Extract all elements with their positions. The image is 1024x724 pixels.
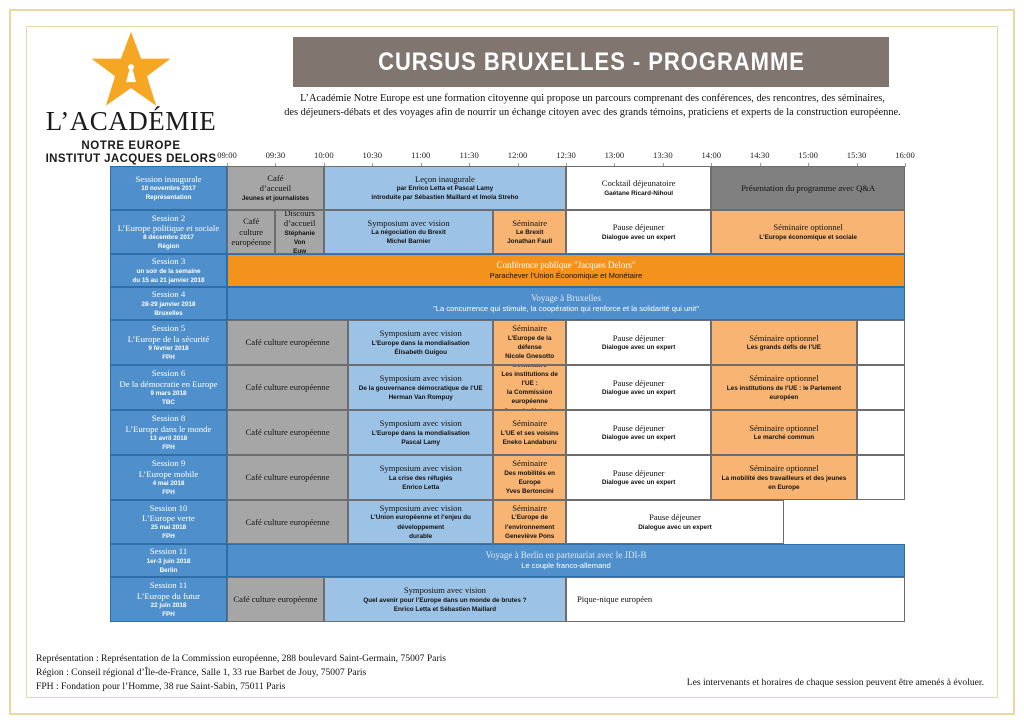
cell-detail: Dialogue avec un expert xyxy=(602,478,676,487)
cell-detail: Jeunes et journalistes xyxy=(242,194,309,203)
schedule-cell[interactable]: SéminaireL’Europe de l’environnementGene… xyxy=(493,500,566,544)
cell-title: Pique-nique européen xyxy=(577,594,652,605)
schedule-cell[interactable]: Séminaire optionnelLa mobilité des trava… xyxy=(711,455,856,500)
star-icon xyxy=(89,30,173,110)
session-banner[interactable]: Conférence publique "Jacques Delors"Para… xyxy=(227,254,905,287)
cell-detail: la Commission européenne xyxy=(497,388,562,406)
axis-tick-mark xyxy=(905,163,906,167)
schedule-cell[interactable]: Symposium avec visionL’Union européenne … xyxy=(348,500,493,544)
cell-title: Séminaire optionnel xyxy=(773,222,842,233)
intro-text: L’Académie Notre Europe est une formatio… xyxy=(240,92,945,119)
cell-detail: L’Union européenne et l’enjeu du dévelop… xyxy=(352,513,489,531)
session-label-l4: FPH xyxy=(162,488,175,497)
logo-institute: INSTITUT JACQUES DELORS xyxy=(36,153,226,165)
cell-detail: en Europe xyxy=(768,483,799,492)
cell-detail: Euw xyxy=(293,247,306,254)
cell-detail: Les institutions de l’UE : le Parlement … xyxy=(715,384,852,402)
session-label-l1: Session inaugurale xyxy=(135,174,201,184)
session-banner[interactable]: Voyage à Berlin en partenariat avec le J… xyxy=(227,544,905,577)
cell-detail: Les grands défis de l’UE xyxy=(747,343,821,352)
schedule-cell[interactable]: Symposium avec visionL’Europe dans la mo… xyxy=(348,320,493,365)
schedule-cell[interactable]: Cafécultureeuropéenne xyxy=(227,210,275,254)
axis-tick-label: 11:00 xyxy=(411,150,430,160)
session-label-l3: 9 février 2018 xyxy=(148,344,188,353)
cell-title: Symposium avec vision xyxy=(380,463,462,474)
session-label-l1: Session 5 xyxy=(152,323,185,333)
session-label-l3: 22 juin 2018 xyxy=(151,601,187,610)
session-label-l4: Région xyxy=(158,242,179,251)
schedule-row: Session 2L’Europe politique et sociale8 … xyxy=(110,210,905,254)
cell-title: d’accueil xyxy=(284,218,316,229)
schedule-row: Session 428-29 janvier 2018BruxellesVoya… xyxy=(110,287,905,320)
schedule-cell[interactable]: Symposium avec visionLa crise des réfugi… xyxy=(348,455,493,500)
session-label-l4: FPH xyxy=(162,353,175,362)
schedule-cell[interactable]: Séminaire optionnelL’Europe économique e… xyxy=(711,210,905,254)
cell-title: Symposium avec vision xyxy=(368,218,450,229)
schedule-cell[interactable]: Présentation du programme avec Q&A xyxy=(711,166,905,210)
schedule-cell[interactable]: Symposium avec visionDe la gouvernance d… xyxy=(348,365,493,410)
cell-title: Leçon inaugurale xyxy=(415,174,475,185)
schedule-cell[interactable]: Café culture européenne xyxy=(227,500,348,544)
cell-detail: introduite par Sébastien Maillard et Imo… xyxy=(371,193,518,202)
cell-detail: Yves Bertoncini xyxy=(506,487,554,496)
cell-title: Séminaire xyxy=(512,418,547,429)
footer-line-1: Représentation : Représentation de la Co… xyxy=(36,652,446,666)
session-label-l1: Session 4 xyxy=(152,289,185,299)
cell-detail: Gaétane Ricard-Nihoul xyxy=(604,189,673,198)
schedule-cell[interactable]: Séminaire optionnelLes grands défis de l… xyxy=(711,320,856,365)
footer-addresses: Représentation : Représentation de la Co… xyxy=(36,652,446,694)
session-label-l2: De la démocratie en Europe xyxy=(119,379,217,389)
cell-detail: De la gouvernance démocratique de l’UE xyxy=(359,384,483,393)
schedule-cell[interactable]: Symposium avec visionLa négociation du B… xyxy=(324,210,494,254)
schedule-cell[interactable]: Pause déjeunerDialogue avec un expert xyxy=(566,455,711,500)
page-title: CURSUS BRUXELLES - PROGRAMME xyxy=(293,37,889,87)
cell-title: Cocktail déjeunatoire xyxy=(602,178,676,189)
schedule-cell[interactable]: SéminaireLes institutions de l’UE :la Co… xyxy=(493,365,566,410)
schedule-row: Session 111er-3 juin 2018BerlinVoyage à … xyxy=(110,544,905,577)
schedule-cell[interactable]: Café culture européenne xyxy=(227,577,324,622)
schedule-cell[interactable]: Symposium avec visionL’Europe dans la mo… xyxy=(348,410,493,455)
cell-detail: Herman Van Rompuy xyxy=(389,393,453,402)
schedule-cell[interactable]: SéminaireL’UE et ses voisinsEneko Landab… xyxy=(493,410,566,455)
schedule-row: Session 10L’Europe verte25 mai 2018FPHCa… xyxy=(110,500,905,544)
axis-tick-label: 13:30 xyxy=(653,150,673,160)
cell-title: Café culture européenne xyxy=(233,594,317,605)
cell-title: Pause déjeuner xyxy=(613,333,665,344)
cell-detail: Pascal Lamy xyxy=(401,438,440,447)
cell-detail: Dialogue avec un expert xyxy=(638,523,712,532)
session-label-l3: 13 avril 2018 xyxy=(150,434,187,443)
cell-detail: La mobilité des travailleurs et des jeun… xyxy=(722,474,847,483)
session-label-cell[interactable]: Session 10L’Europe verte25 mai 2018FPH xyxy=(110,500,227,544)
session-label-l3: 8 décembre 2017 xyxy=(143,233,194,242)
session-label-l4: Bruxelles xyxy=(154,309,182,318)
session-label-cell[interactable]: Session 11L’Europe du futur22 juin 2018F… xyxy=(110,577,227,622)
cell-detail: Enrico Letta xyxy=(402,483,439,492)
cell-title: Séminaire xyxy=(512,218,547,229)
session-label-cell[interactable]: Session 5L’Europe de la sécurité9 févrie… xyxy=(110,320,227,365)
session-label-l2: L’Europe mobile xyxy=(139,469,199,479)
schedule-cell[interactable]: Pique-nique européen xyxy=(566,577,905,622)
schedule-cell[interactable]: Pause déjeunerDialogue avec un expert xyxy=(566,500,784,544)
session-label-l4: FPH xyxy=(162,532,175,541)
cell-title: Symposium avec vision xyxy=(380,503,462,514)
axis-tick-label: 12:00 xyxy=(508,150,528,160)
cell-detail: L’Europe économique et sociale xyxy=(759,233,857,242)
cell-title: Pause déjeuner xyxy=(649,512,701,523)
cell-detail: Le Brexit xyxy=(516,228,543,237)
cell-detail: Geneviève Pons xyxy=(505,532,554,541)
schedule-row: Session 5L’Europe de la sécurité9 févrie… xyxy=(110,320,905,365)
session-label-l4: FPH xyxy=(162,610,175,619)
cell-title: Pause déjeuner xyxy=(613,423,665,434)
axis-tick-label: 14:30 xyxy=(750,150,770,160)
axis-tick-label: 10:30 xyxy=(362,150,382,160)
schedule-cell[interactable]: SéminaireL’Europe de la défenseNicole Gn… xyxy=(493,320,566,365)
footer-line-2: Région : Conseil régional d’Île-de-Franc… xyxy=(36,666,446,680)
cell-title: Café xyxy=(243,216,259,227)
cell-detail: L’Europe dans la mondialisation xyxy=(372,429,470,438)
schedule-cell[interactable]: Pause déjeunerDialogue avec un expert xyxy=(566,365,711,410)
axis-tick-label: 10:00 xyxy=(314,150,334,160)
cell-title: Pause déjeuner xyxy=(613,468,665,479)
cell-title: Café culture européenne xyxy=(246,517,330,528)
session-label-l4: Berlin xyxy=(160,566,178,575)
session-label-l4: du 15 au 21 janvier 2018 xyxy=(132,276,204,285)
session-label-l2: L’Europe du futur xyxy=(137,591,200,601)
session-label-cell[interactable]: Session 6De la démocratie en Europe9 mar… xyxy=(110,365,227,410)
axis-tick-label: 11:30 xyxy=(460,150,479,160)
session-label-l1: Session 3 xyxy=(152,256,185,266)
session-label-cell[interactable]: Session 111er-3 juin 2018Berlin xyxy=(110,544,227,577)
schedule-cell[interactable]: Caféd’accueilJeunes et journalistes xyxy=(227,166,324,210)
schedule-row: Session 8L’Europe dans le monde13 avril … xyxy=(110,410,905,455)
session-label-l4: FPH xyxy=(162,443,175,452)
cell-detail: L’Europe de la défense xyxy=(497,334,562,352)
session-label-l1: Session 10 xyxy=(150,503,188,513)
cell-title: Symposium avec vision xyxy=(380,418,462,429)
cell-detail: Enrico Letta et Sébastien Maillard xyxy=(394,605,496,614)
cell-detail: Eneko Landaburu xyxy=(503,438,557,447)
cell-detail: Des mobilités en Europe xyxy=(497,469,562,487)
session-label-cell[interactable]: Session 8L’Europe dans le monde13 avril … xyxy=(110,410,227,455)
logo-subtitle: NOTRE EUROPE xyxy=(36,140,226,152)
cell-title: Séminaire optionnel xyxy=(749,423,818,434)
schedule-cell[interactable]: Cocktail déjeunatoireGaétane Ricard-Niho… xyxy=(566,166,711,210)
cell-title: Séminaire xyxy=(512,323,547,334)
banner-title: Voyage à Bruxelles xyxy=(531,293,601,304)
session-label-cell[interactable]: Session 9L’Europe mobile4 mai 2018FPH xyxy=(110,455,227,500)
schedule-cell[interactable]: Séminaire optionnelLes institutions de l… xyxy=(711,365,856,410)
session-label-l3: 9 mars 2018 xyxy=(150,389,186,398)
cell-title: Séminaire xyxy=(512,503,547,514)
footer-line-3: FPH : Fondation pour l’Homme, 38 rue Sai… xyxy=(36,680,446,694)
session-label-l3: 25 mai 2018 xyxy=(151,523,186,532)
banner-title: Voyage à Berlin en partenariat avec le J… xyxy=(485,550,646,561)
cell-detail: Élisabeth Guigou xyxy=(394,348,447,357)
axis-tick-label: 15:00 xyxy=(798,150,818,160)
axis-tick-label: 15:30 xyxy=(847,150,867,160)
cell-title: Café culture européenne xyxy=(246,337,330,348)
schedule-row: Session inaugurale10 novembre 2017Représ… xyxy=(110,166,905,210)
cell-detail: Nicole Gnesotto xyxy=(505,352,554,361)
schedule-cell[interactable]: SéminaireLe BrexitJonathan Faull xyxy=(493,210,566,254)
schedule-cell[interactable]: SéminaireDes mobilités en EuropeYves Ber… xyxy=(493,455,566,500)
axis-tick-label: 14:00 xyxy=(701,150,721,160)
schedule-cell[interactable]: Pause déjeunerDialogue avec un expert xyxy=(566,320,711,365)
cell-title: Pause déjeuner xyxy=(613,222,665,233)
session-label-l2: L’Europe dans le monde xyxy=(126,424,212,434)
session-label-l1: Session 2 xyxy=(152,213,185,223)
session-label-cell[interactable]: Session 3un soir de la semainedu 15 au 2… xyxy=(110,254,227,287)
cell-detail: Quel avenir pour l’Europe dans un monde … xyxy=(363,596,526,605)
session-label-l3: 28-29 janvier 2018 xyxy=(142,300,196,309)
cell-title: Symposium avec vision xyxy=(404,585,486,596)
schedule-cell[interactable]: Discoursd’accueilStéphanie VonEuw xyxy=(275,210,323,254)
cell-title: Présentation du programme avec Q&A xyxy=(741,183,875,194)
logo: L’ACADÉMIE NOTRE EUROPE INSTITUT JACQUES… xyxy=(36,30,226,165)
schedule-cell[interactable] xyxy=(857,455,905,500)
cell-title: Séminaire optionnel xyxy=(749,373,818,384)
cell-detail: Dialogue avec un expert xyxy=(602,233,676,242)
cell-detail: par Enrico Letta et Pascal Lamy xyxy=(397,184,494,193)
cell-title: européenne xyxy=(231,237,271,248)
intro-line-2: des déjeuners-débats et des voyages afin… xyxy=(240,106,945,120)
cell-title: d’accueil xyxy=(260,183,292,194)
session-label-cell[interactable]: Session inaugurale10 novembre 2017Représ… xyxy=(110,166,227,210)
cell-title: Discours xyxy=(284,210,315,218)
session-label-l1: Session 6 xyxy=(152,368,185,378)
schedule-cell[interactable]: Symposium avec visionQuel avenir pour l’… xyxy=(324,577,566,622)
axis-tick-label: 12:30 xyxy=(556,150,576,160)
cell-detail: Les institutions de l’UE : xyxy=(497,370,562,388)
cell-detail: L’Europe de l’environnement xyxy=(497,513,562,531)
session-label-l3: 4 mai 2018 xyxy=(153,479,185,488)
session-label-l4: TBC xyxy=(162,398,175,407)
cell-detail: La crise des réfugiés xyxy=(389,474,453,483)
cell-title: Symposium avec vision xyxy=(380,328,462,339)
cell-detail: Stéphanie Von xyxy=(279,229,319,247)
page-title-text: CURSUS BRUXELLES - PROGRAMME xyxy=(378,48,805,77)
footer-note: Les intervenants et horaires de chaque s… xyxy=(687,677,984,688)
schedule-row: Session 9L’Europe mobile4 mai 2018FPHCaf… xyxy=(110,455,905,500)
session-label-cell[interactable]: Session 2L’Europe politique et sociale8 … xyxy=(110,210,227,254)
cell-detail: Le marché commun xyxy=(754,433,814,442)
banner-title: Conférence publique "Jacques Delors" xyxy=(496,260,635,271)
session-label-l1: Session 11 xyxy=(150,580,188,590)
cell-detail: Dialogue avec un expert xyxy=(602,433,676,442)
banner-subtitle: Le couple franco-allemand xyxy=(521,561,611,572)
intro-line-1: L’Académie Notre Europe est une formatio… xyxy=(240,92,945,106)
cell-title: Café xyxy=(267,173,283,184)
schedule-row: Session 11L’Europe du futur22 juin 2018F… xyxy=(110,577,905,622)
time-axis: 09:0009:3010:0010:3011:0011:3012:0012:30… xyxy=(227,150,905,163)
cell-title: Séminaire optionnel xyxy=(749,333,818,344)
schedule-cell[interactable]: Pause déjeunerDialogue avec un expert xyxy=(566,410,711,455)
cell-title: Café culture européenne xyxy=(246,427,330,438)
schedule-row: Session 3un soir de la semainedu 15 au 2… xyxy=(110,254,905,287)
session-label-l1: Session 11 xyxy=(150,546,188,556)
session-label-l3: 1er-3 juin 2018 xyxy=(147,557,191,566)
axis-tick-label: 09:30 xyxy=(266,150,286,160)
cell-title: Symposium avec vision xyxy=(380,373,462,384)
axis-tick-label: 13:00 xyxy=(605,150,625,160)
cell-detail: L’UE et ses voisins xyxy=(501,429,559,438)
cell-detail: Michel Barnier xyxy=(387,237,431,246)
schedule-cell[interactable]: Leçon inauguralepar Enrico Letta et Pasc… xyxy=(324,166,566,210)
cell-title: Café culture européenne xyxy=(246,472,330,483)
cell-title: Séminaire optionnel xyxy=(749,463,818,474)
session-label-l2: L’Europe politique et sociale xyxy=(118,223,220,233)
schedule-cell[interactable]: Café culture européenne xyxy=(227,410,348,455)
schedule-cell[interactable] xyxy=(857,320,905,365)
cell-detail: Dialogue avec un expert xyxy=(602,343,676,352)
schedule-cell[interactable]: Café culture européenne xyxy=(227,365,348,410)
banner-subtitle: "La concurrence qui stimule, la coopérat… xyxy=(433,304,699,315)
schedule-cell[interactable] xyxy=(857,365,905,410)
axis-tick-label: 16:00 xyxy=(895,150,915,160)
program-page: L’ACADÉMIE NOTRE EUROPE INSTITUT JACQUES… xyxy=(0,0,1024,724)
session-label-l1: Session 8 xyxy=(152,413,185,423)
banner-subtitle: Parachever l’Union Économique et Monétai… xyxy=(490,271,643,282)
cell-title: Séminaire xyxy=(512,458,547,469)
session-label-l3: 10 novembre 2017 xyxy=(141,184,196,193)
cell-detail: L’Europe dans la mondialisation xyxy=(372,339,470,348)
cell-title: Café culture européenne xyxy=(246,382,330,393)
schedule-cell[interactable]: Café culture européenne xyxy=(227,455,348,500)
logo-title: L’ACADÉMIE xyxy=(36,106,226,137)
cell-detail: La négociation du Brexit xyxy=(371,228,446,237)
axis-tick-label: 09:00 xyxy=(217,150,237,160)
session-label-l4: Représentation xyxy=(146,193,192,202)
session-label-l2: L’Europe de la sécurité xyxy=(128,334,210,344)
session-label-l3: un soir de la semaine xyxy=(136,267,200,276)
cell-detail: durable xyxy=(409,532,432,541)
cell-detail: Dialogue avec un expert xyxy=(602,388,676,397)
session-label-l2: L’Europe verte xyxy=(142,513,195,523)
session-label-cell[interactable]: Session 428-29 janvier 2018Bruxelles xyxy=(110,287,227,320)
cell-title: culture xyxy=(239,227,263,238)
schedule-grid: Session inaugurale10 novembre 2017Représ… xyxy=(110,166,905,622)
session-label-l1: Session 9 xyxy=(152,458,185,468)
schedule-row: Session 6De la démocratie en Europe9 mar… xyxy=(110,365,905,410)
cell-detail: Jonathan Faull xyxy=(507,237,552,246)
session-banner[interactable]: Voyage à Bruxelles"La concurrence qui st… xyxy=(227,287,905,320)
schedule-cell[interactable]: Pause déjeunerDialogue avec un expert xyxy=(566,210,711,254)
cell-title: Pause déjeuner xyxy=(613,378,665,389)
schedule-cell[interactable]: Café culture européenne xyxy=(227,320,348,365)
schedule-cell[interactable] xyxy=(857,410,905,455)
schedule-cell[interactable]: Séminaire optionnelLe marché commun xyxy=(711,410,856,455)
